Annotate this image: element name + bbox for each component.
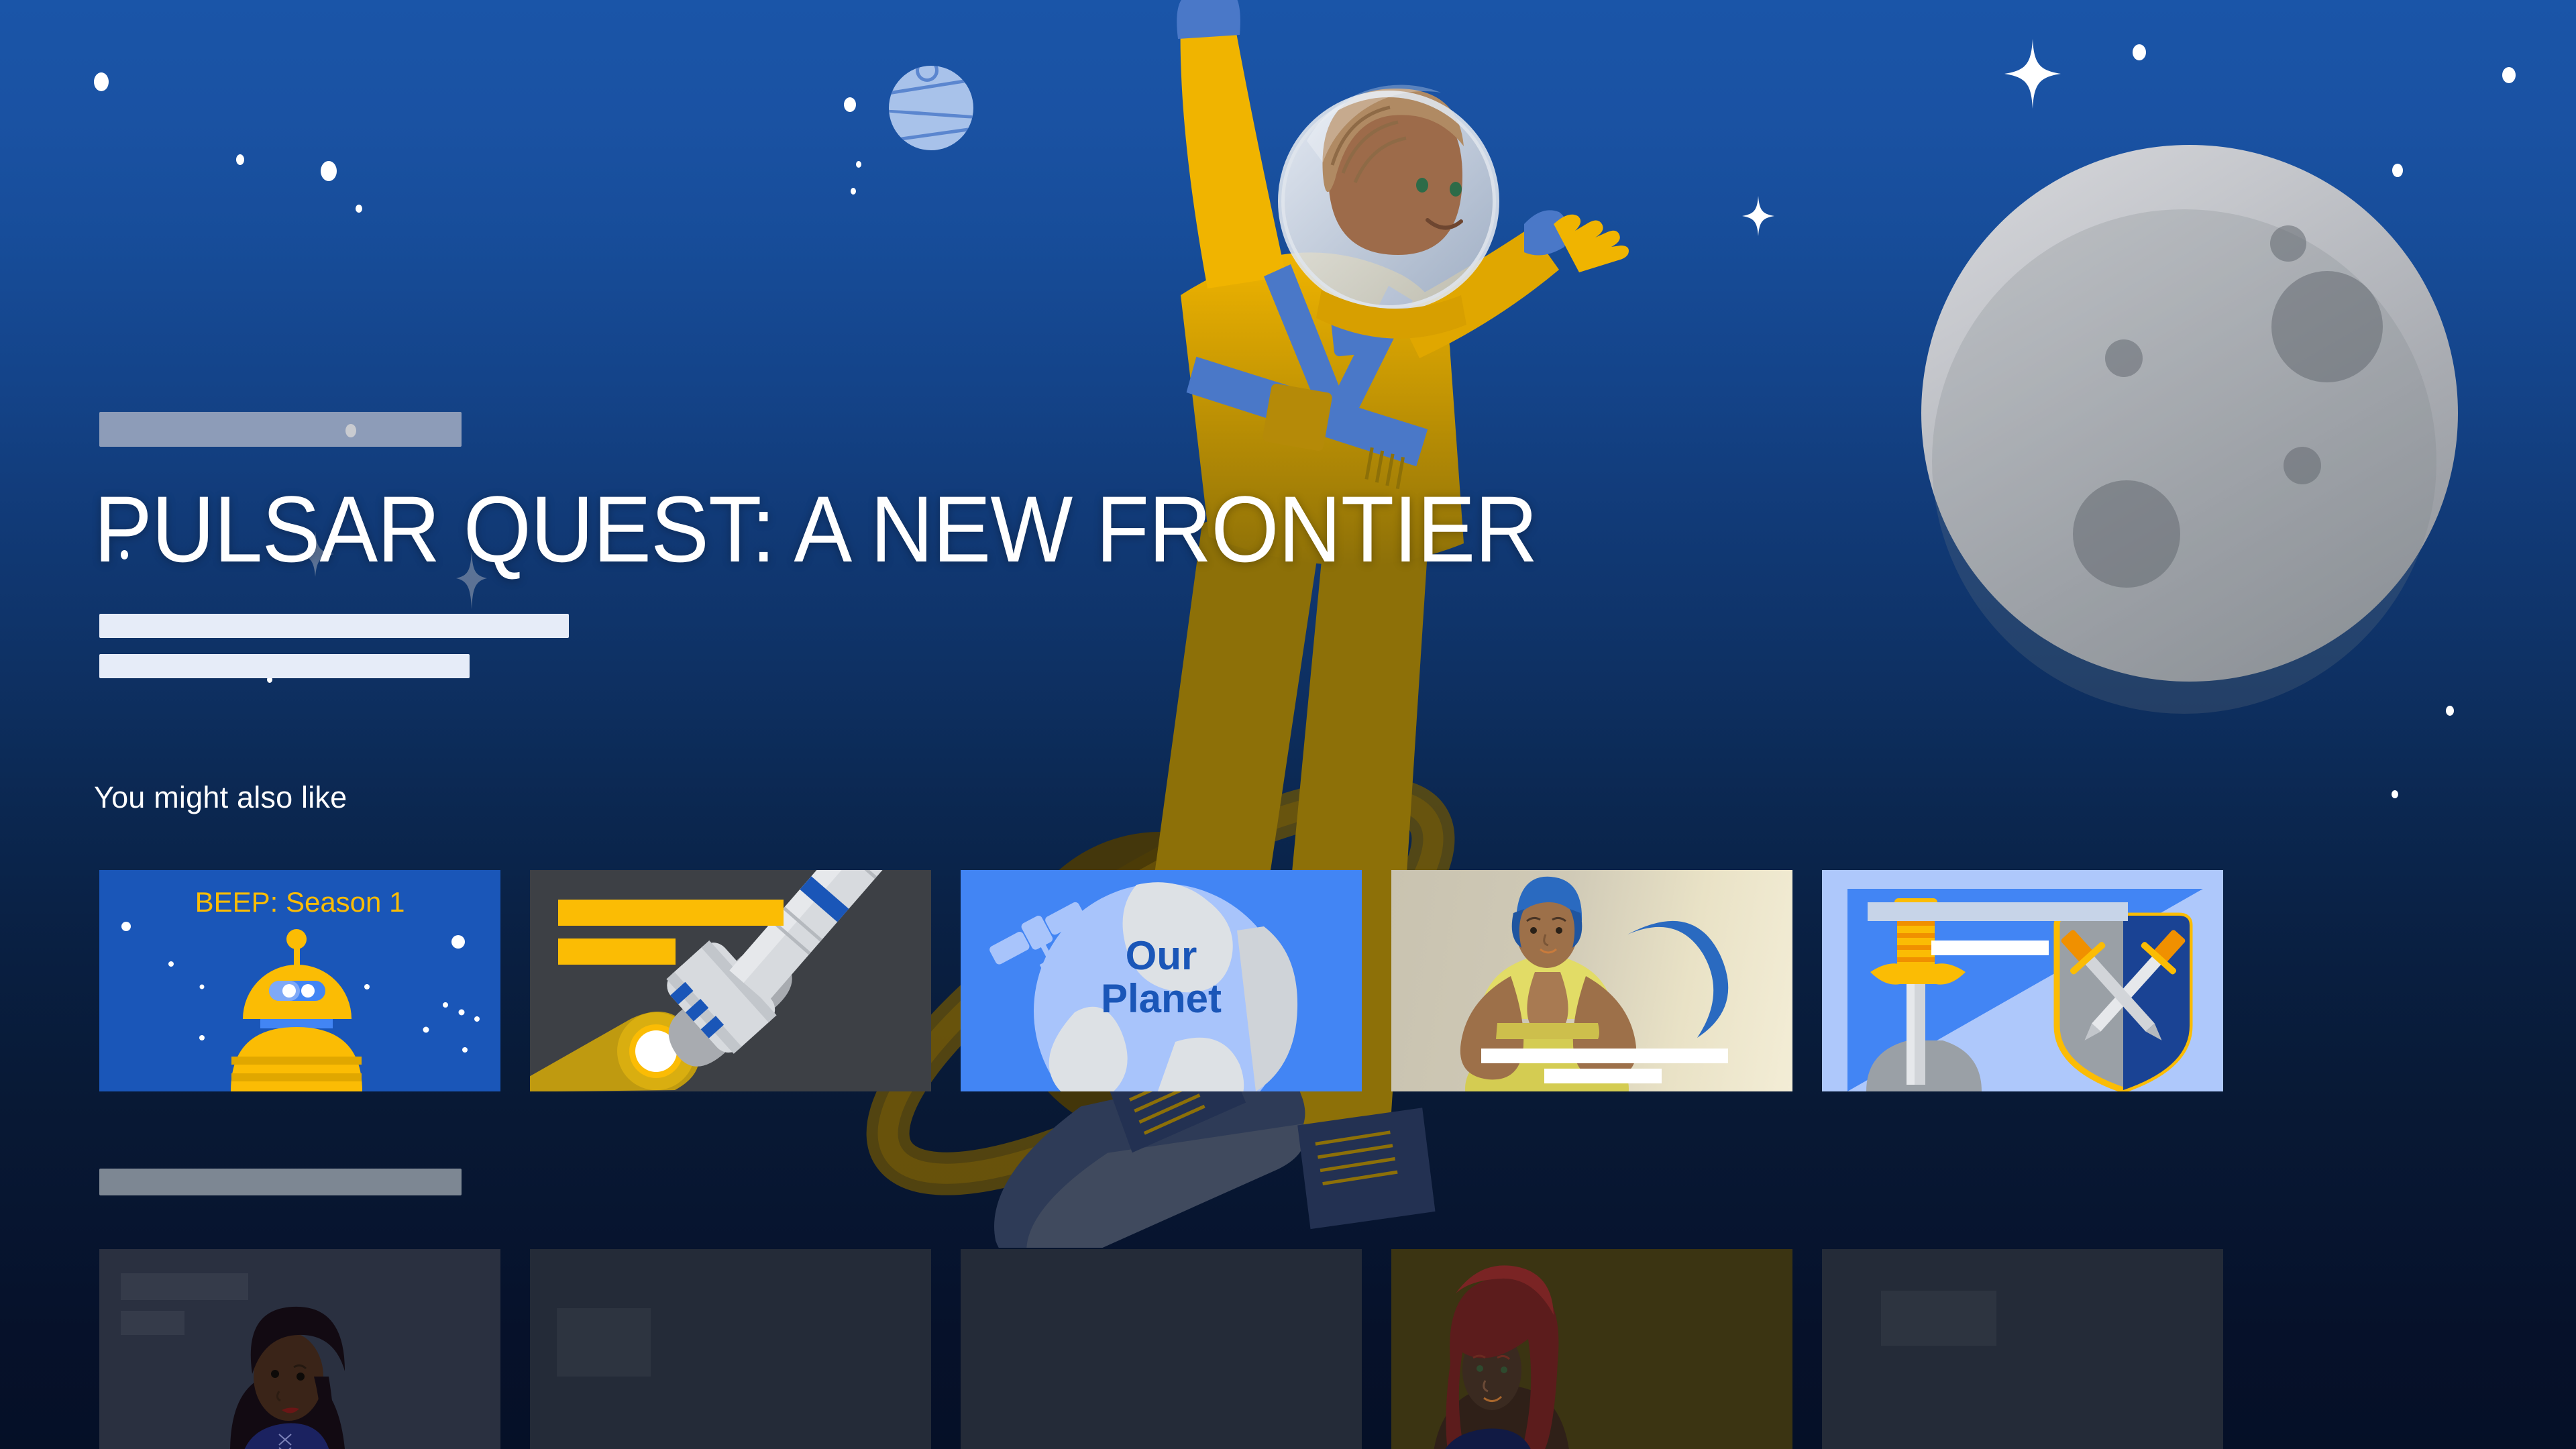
card-placeholder-bar-2: [1931, 941, 2049, 955]
rail-heading-placeholder-bar: [99, 1169, 462, 1195]
card-rocket-launch[interactable]: [530, 870, 931, 1091]
card-meditation[interactable]: [1391, 870, 1792, 1091]
woman-red-hair-illustration: [1391, 1249, 1792, 1449]
star: [321, 161, 337, 181]
card-row2-2[interactable]: [530, 1249, 931, 1449]
page-title: PULSAR QUEST: A NEW FRONTIER: [94, 485, 1538, 574]
card-title-line-2: Planet: [961, 977, 1362, 1020]
star: [345, 424, 356, 437]
card-our-planet[interactable]: Our Planet: [961, 870, 1362, 1091]
woman-dark-hair-illustration: [99, 1249, 500, 1449]
moon-crater: [2270, 225, 2306, 262]
card-placeholder-bar-2: [558, 938, 676, 965]
card-beep-season-1[interactable]: BEEP: Season 1: [99, 870, 500, 1091]
star: [94, 72, 109, 91]
star: [356, 205, 362, 213]
star: [2502, 67, 2516, 83]
large-grey-moon: [1921, 145, 2458, 682]
card-placeholder-bar-1: [1481, 1049, 1728, 1063]
rail-heading-you-might-also-like: You might also like: [94, 780, 347, 815]
moon-crater: [2284, 447, 2321, 484]
moon-crater: [2073, 480, 2180, 588]
four-point-star-icon: [2002, 37, 2063, 111]
card-row2-1[interactable]: [99, 1249, 500, 1449]
rail-you-might-also-like: BEEP: Season 1: [99, 870, 2223, 1091]
card-row2-3[interactable]: [961, 1249, 1362, 1449]
moon-crater: [2271, 271, 2383, 382]
card-placeholder-block: [557, 1308, 651, 1377]
hero-placeholder-bar-sub2: [99, 654, 470, 678]
star: [2133, 44, 2146, 60]
hero-placeholder-bar-top: [99, 412, 462, 447]
star: [844, 97, 856, 112]
card-sword-and-shield[interactable]: [1822, 870, 2223, 1091]
hero-page: PULSAR QUEST: A NEW FRONTIER You might a…: [0, 0, 2576, 1449]
star: [2392, 790, 2398, 798]
card-placeholder-block: [1881, 1291, 1996, 1346]
card-title-line-1: Our: [961, 934, 1362, 977]
helmet: [1281, 85, 1496, 309]
card-placeholder-bar-1: [1868, 902, 2128, 921]
card-placeholder-bar-1: [558, 900, 784, 926]
card-row2-5[interactable]: [1822, 1249, 2223, 1449]
rail-secondary: [99, 1249, 2223, 1449]
star: [2446, 706, 2454, 716]
card-title-our-planet: Our Planet: [961, 934, 1362, 1020]
star: [851, 188, 856, 195]
moon-crater: [2105, 339, 2143, 377]
four-point-star-icon: [1741, 195, 1776, 237]
star: [236, 154, 244, 165]
hero-placeholder-bar-sub1: [99, 614, 569, 638]
card-placeholder-bar-2: [1544, 1069, 1662, 1083]
card-title-beep: BEEP: Season 1: [99, 886, 500, 918]
card-row2-4[interactable]: [1391, 1249, 1792, 1449]
